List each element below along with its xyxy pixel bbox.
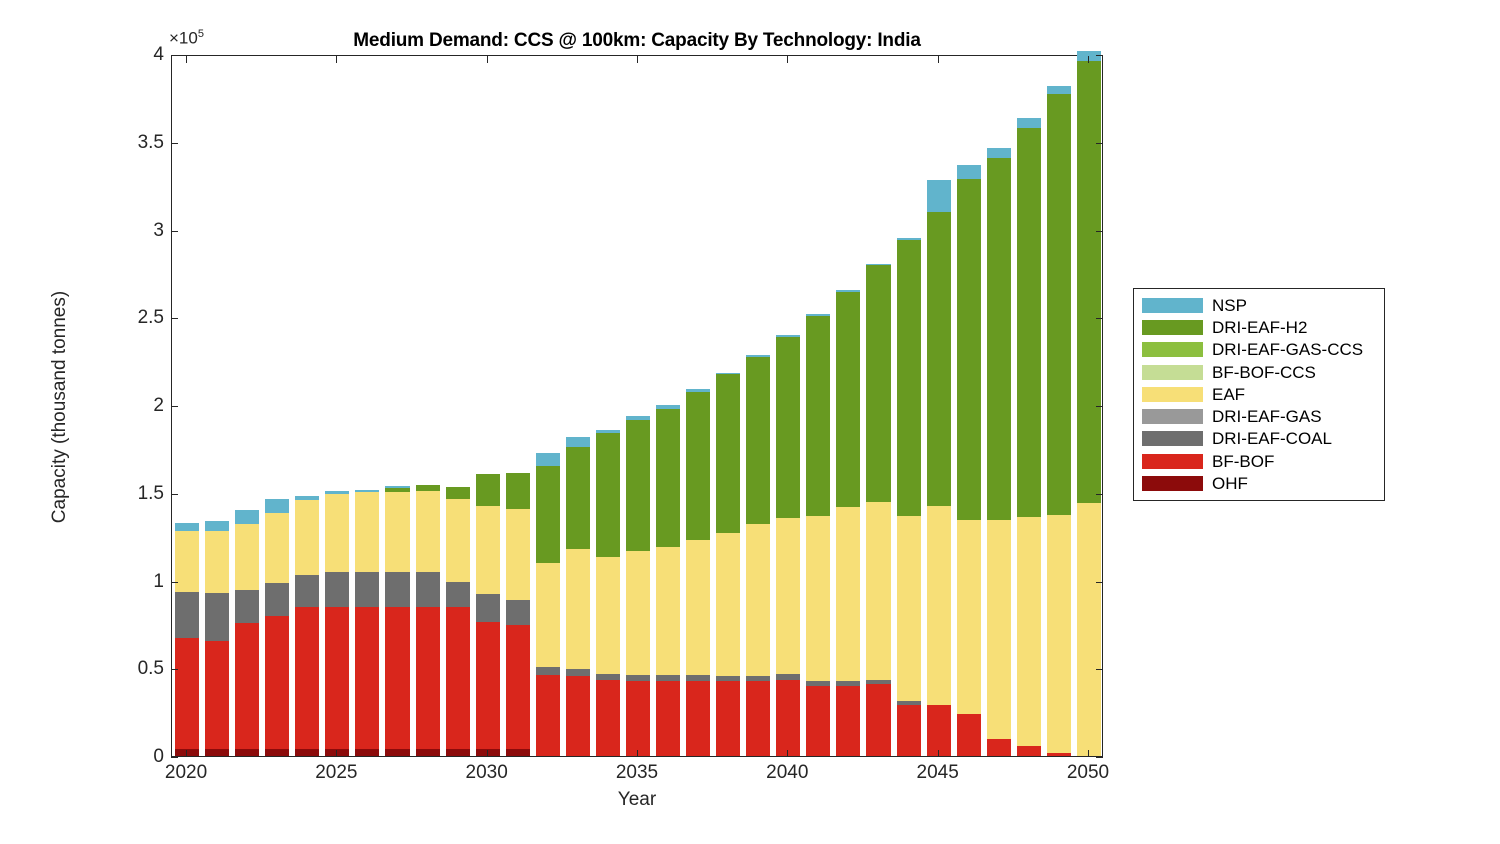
bar-segment-eaf[interactable] [416,491,440,573]
bar-segment-dri-eaf-coal[interactable] [325,572,349,607]
bar-segment-nsp[interactable] [626,416,650,420]
x-tick-mark [938,750,939,757]
bar-segment-nsp[interactable] [295,496,319,500]
x-tick-label-2045: 2045 [898,762,978,784]
y-axis-exponent: ×105 [169,28,204,49]
bar-segment-nsp[interactable] [235,510,259,524]
legend: NSPDRI-EAF-H2DRI-EAF-GAS-CCSBF-BOF-CCSEA… [1133,288,1385,501]
legend-swatch-dri-eaf-gas-ccs [1142,342,1203,357]
legend-item-dri-eaf-h2[interactable]: DRI-EAF-H2 [1134,316,1384,338]
bar-segment-dri-eaf-coal[interactable] [656,675,680,681]
bar-segment-dri-eaf-coal[interactable] [536,667,560,675]
page-title: Medium Demand: CCS @ 100km: Capacity By … [171,30,1103,52]
bar-column-2048[interactable] [1017,54,1041,756]
bar-segment-dri-eaf-coal[interactable] [897,701,921,705]
bar-segment-eaf[interactable] [536,563,560,667]
bar-column-2033[interactable] [566,54,590,756]
bar-segment-nsp[interactable] [1017,118,1041,128]
bar-segment-nsp[interactable] [746,355,770,357]
bar-segment-eaf[interactable] [957,520,981,714]
bar-segment-ohf[interactable] [235,749,259,756]
bar-segment-nsp[interactable] [566,437,590,447]
bar-column-2037[interactable] [686,54,710,756]
bar-column-2049[interactable] [1047,54,1071,756]
bar-column-2038[interactable] [716,54,740,756]
legend-item-bf-bof[interactable]: BF-BOF [1134,450,1384,472]
bar-segment-dri-eaf-h2[interactable] [506,473,530,509]
bar-segment-bf-bof[interactable] [355,607,379,748]
bar-column-2042[interactable] [836,54,860,756]
y-tick-label-4: 4 [104,44,164,66]
plot-area [171,55,1103,757]
bar-segment-dri-eaf-coal[interactable] [566,669,590,676]
y-tick-mark [171,582,178,583]
y-tick-mark-right [1096,406,1103,407]
x-tick-label-2030: 2030 [447,762,527,784]
bar-segment-eaf[interactable] [235,524,259,590]
bar-segment-bf-bof[interactable] [476,622,500,748]
bar-column-2044[interactable] [897,54,921,756]
bar-segment-dri-eaf-coal[interactable] [385,572,409,607]
bar-segment-dri-eaf-h2[interactable] [746,357,770,525]
bar-column-2039[interactable] [746,54,770,756]
bar-segment-bf-bof[interactable] [446,607,470,748]
legend-swatch-bf-bof-ccs [1142,365,1203,380]
legend-item-dri-eaf-coal[interactable]: DRI-EAF-COAL [1134,428,1384,450]
bar-segment-ohf[interactable] [325,749,349,756]
bar-segment-dri-eaf-h2[interactable] [1077,61,1101,503]
y-tick-mark-right [1096,494,1103,495]
legend-swatch-dri-eaf-coal [1142,431,1203,446]
bar-segment-dri-eaf-h2[interactable] [1047,94,1071,515]
bar-column-2021[interactable] [205,54,229,756]
y-tick-mark [171,669,178,670]
bar-segment-ohf[interactable] [295,749,319,756]
bar-segment-nsp[interactable] [987,148,1011,158]
bar-column-2043[interactable] [866,54,890,756]
x-tick-mark-top [787,56,788,63]
bar-segment-bf-bof[interactable] [385,607,409,748]
y-tick-mark [171,406,178,407]
bar-segment-eaf[interactable] [656,547,680,675]
bar-column-2034[interactable] [596,54,620,756]
bar-segment-bf-bof[interactable] [205,641,229,749]
bar-segment-dri-eaf-coal[interactable] [626,675,650,681]
bar-segment-dri-eaf-coal[interactable] [866,680,890,684]
bar-column-2040[interactable] [776,54,800,756]
legend-item-nsp[interactable]: NSP [1134,294,1384,316]
bar-column-2028[interactable] [416,54,440,756]
bar-segment-eaf[interactable] [1047,515,1071,754]
bar-segment-dri-eaf-h2[interactable] [927,212,951,506]
bar-segment-dri-eaf-coal[interactable] [836,681,860,686]
bar-segment-dri-eaf-h2[interactable] [416,485,440,490]
bar-column-2036[interactable] [656,54,680,756]
bar-segment-eaf[interactable] [776,518,800,674]
legend-label: OHF [1212,475,1248,492]
bar-segment-eaf[interactable] [1077,503,1101,756]
legend-label: BF-BOF-CCS [1212,364,1316,381]
bar-column-2050[interactable] [1077,54,1101,756]
y-axis-title: Capacity (thousand tonnes) [49,87,71,727]
bar-column-2020[interactable] [175,54,199,756]
bar-segment-nsp[interactable] [265,499,289,513]
x-tick-label-2050: 2050 [1048,762,1128,784]
bar-segment-eaf[interactable] [175,531,199,592]
bar-segment-dri-eaf-h2[interactable] [656,409,680,548]
bar-segment-bf-bof[interactable] [265,616,289,749]
bar-segment-eaf[interactable] [866,502,890,680]
bar-segment-eaf[interactable] [325,494,349,572]
bar-segment-bf-bof[interactable] [836,686,860,756]
y-tick-label-3.5: 3.5 [104,132,164,154]
bar-segment-dri-eaf-coal[interactable] [776,674,800,679]
bar-segment-dri-eaf-h2[interactable] [1017,128,1041,518]
legend-swatch-bf-bof [1142,454,1203,469]
bar-segment-bf-bof[interactable] [987,739,1011,756]
bar-segment-ohf[interactable] [355,749,379,756]
bar-segment-bf-bof[interactable] [656,681,680,756]
y-tick-mark-right [1096,669,1103,670]
y-tick-mark-right [1096,582,1103,583]
bar-segment-bf-bof[interactable] [866,684,890,756]
chart-page: Medium Demand: CCS @ 100km: Capacity By … [0,0,1500,844]
bar-segment-dri-eaf-coal[interactable] [175,592,199,639]
bar-segment-eaf[interactable] [806,516,830,681]
bar-column-2047[interactable] [987,54,1011,756]
bar-column-2027[interactable] [385,54,409,756]
bar-segment-nsp[interactable] [927,180,951,212]
y-tick-mark [171,318,178,319]
bar-segment-eaf[interactable] [987,520,1011,739]
bar-segment-nsp[interactable] [897,238,921,240]
bar-segment-nsp[interactable] [385,486,409,488]
bar-segment-ohf[interactable] [265,749,289,756]
x-tick-mark [637,750,638,757]
x-tick-mark [1088,750,1089,757]
bar-segment-dri-eaf-h2[interactable] [476,474,500,506]
bar-segment-bf-bof[interactable] [566,676,590,756]
bar-segment-nsp[interactable] [866,264,890,266]
bar-segment-bf-bof[interactable] [806,686,830,756]
bar-segment-bf-bof[interactable] [536,675,560,756]
bar-segment-nsp[interactable] [957,165,981,179]
x-tick-mark-top [1088,56,1089,63]
legend-label: DRI-EAF-GAS-CCS [1212,341,1363,358]
bar-column-2022[interactable] [235,54,259,756]
bar-segment-dri-eaf-h2[interactable] [385,488,409,492]
y-tick-mark-right [1096,231,1103,232]
y-axis-exponent-base: ×10 [169,29,198,48]
bar-segment-dri-eaf-coal[interactable] [295,575,319,607]
bar-segment-eaf[interactable] [355,492,379,572]
legend-swatch-eaf [1142,387,1203,402]
legend-item-bf-bof-ccs[interactable]: BF-BOF-CCS [1134,361,1384,383]
y-tick-mark [171,757,178,758]
bar-column-2045[interactable] [927,54,951,756]
legend-label: BF-BOF [1212,453,1274,470]
bar-segment-dri-eaf-h2[interactable] [596,433,620,557]
bar-segment-eaf[interactable] [506,509,530,600]
y-tick-mark [171,55,178,56]
y-tick-mark-right [1096,318,1103,319]
bar-segment-bf-bof[interactable] [746,681,770,756]
bar-column-2031[interactable] [506,54,530,756]
bar-segment-nsp[interactable] [716,373,740,375]
bar-segment-eaf[interactable] [927,506,951,705]
bar-segment-eaf[interactable] [746,524,770,676]
bar-segment-bf-bof[interactable] [957,714,981,756]
bar-segment-eaf[interactable] [566,549,590,669]
y-tick-mark [171,494,178,495]
bar-column-2023[interactable] [265,54,289,756]
x-tick-mark-top [186,56,187,63]
y-tick-label-1.5: 1.5 [104,483,164,505]
legend-label: EAF [1212,386,1245,403]
bar-segment-bf-bof[interactable] [716,681,740,756]
bar-segment-dri-eaf-h2[interactable] [957,179,981,519]
bar-segment-bf-bof[interactable] [686,681,710,756]
bar-segment-dri-eaf-h2[interactable] [626,420,650,551]
bar-segment-dri-eaf-h2[interactable] [536,466,560,563]
bar-segment-ohf[interactable] [416,749,440,756]
legend-item-dri-eaf-gas-ccs[interactable]: DRI-EAF-GAS-CCS [1134,339,1384,361]
bar-segment-dri-eaf-h2[interactable] [776,337,800,519]
legend-label: DRI-EAF-H2 [1212,319,1307,336]
bar-segment-bf-bof[interactable] [776,680,800,756]
bar-column-2026[interactable] [355,54,379,756]
bar-segment-dri-eaf-coal[interactable] [476,594,500,622]
bar-segment-dri-eaf-h2[interactable] [566,447,590,549]
x-tick-mark-top [336,56,337,63]
x-tick-mark [487,750,488,757]
bar-segment-dri-eaf-h2[interactable] [686,392,710,540]
bar-segment-eaf[interactable] [205,531,229,593]
bar-segment-eaf[interactable] [716,533,740,676]
y-tick-label-3: 3 [104,220,164,242]
bar-segment-nsp[interactable] [536,453,560,465]
legend-label: DRI-EAF-GAS [1212,408,1322,425]
bar-segment-dri-eaf-coal[interactable] [416,572,440,607]
x-tick-mark-top [637,56,638,63]
bar-segment-dri-eaf-h2[interactable] [446,487,470,498]
bar-segment-dri-eaf-coal[interactable] [716,676,740,681]
bar-segment-ohf[interactable] [385,749,409,756]
bar-column-2032[interactable] [536,54,560,756]
legend-item-dri-eaf-gas[interactable]: DRI-EAF-GAS [1134,405,1384,427]
bar-segment-dri-eaf-coal[interactable] [596,674,620,680]
y-tick-mark-right [1096,143,1103,144]
bar-segment-dri-eaf-coal[interactable] [446,582,470,607]
bar-segment-dri-eaf-coal[interactable] [746,676,770,681]
legend-item-eaf[interactable]: EAF [1134,383,1384,405]
bar-segment-eaf[interactable] [476,506,500,595]
y-tick-label-1: 1 [104,571,164,593]
x-tick-mark-top [938,56,939,63]
y-tick-mark [171,231,178,232]
legend-swatch-dri-eaf-gas [1142,409,1203,424]
bars-layer [172,56,1102,756]
bar-column-2025[interactable] [325,54,349,756]
legend-label: NSP [1212,297,1247,314]
y-axis-exponent-power: 5 [198,28,204,40]
bar-segment-nsp[interactable] [175,523,199,531]
x-tick-label-2040: 2040 [747,762,827,784]
bar-segment-dri-eaf-h2[interactable] [836,292,860,507]
legend-label: DRI-EAF-COAL [1212,430,1332,447]
y-tick-label-0.5: 0.5 [104,658,164,680]
bar-segment-ohf[interactable] [446,749,470,756]
bar-segment-dri-eaf-coal[interactable] [506,600,530,625]
bar-column-2024[interactable] [295,54,319,756]
x-tick-mark [186,750,187,757]
bar-segment-dri-eaf-coal[interactable] [806,681,830,686]
x-tick-mark [787,750,788,757]
y-tick-mark-right [1096,55,1103,56]
bar-segment-bf-bof[interactable] [596,680,620,756]
bar-column-2029[interactable] [446,54,470,756]
bar-segment-bf-bof[interactable] [235,623,259,748]
bar-segment-eaf[interactable] [836,507,860,681]
bar-segment-dri-eaf-coal[interactable] [205,593,229,640]
bar-segment-ohf[interactable] [205,749,229,756]
bar-segment-bf-bof[interactable] [506,625,530,749]
legend-swatch-dri-eaf-h2 [1142,320,1203,335]
bar-segment-dri-eaf-h2[interactable] [987,158,1011,520]
x-tick-mark-top [487,56,488,63]
bar-segment-bf-bof[interactable] [416,607,440,748]
bar-segment-eaf[interactable] [446,499,470,582]
bar-segment-nsp[interactable] [686,389,710,392]
bar-segment-nsp[interactable] [325,491,349,495]
bar-segment-eaf[interactable] [265,513,289,583]
bar-segment-nsp[interactable] [205,521,229,532]
bar-segment-eaf[interactable] [897,516,921,701]
bar-segment-eaf[interactable] [295,500,319,575]
legend-item-ohf[interactable]: OHF [1134,472,1384,494]
bar-segment-bf-bof[interactable] [1017,746,1041,756]
bar-segment-eaf[interactable] [1017,517,1041,746]
bar-segment-bf-bof[interactable] [927,705,951,756]
bar-segment-dri-eaf-h2[interactable] [716,374,740,533]
bar-segment-dri-eaf-h2[interactable] [866,265,890,501]
bar-segment-nsp[interactable] [836,290,860,292]
bar-segment-dri-eaf-coal[interactable] [265,583,289,616]
bar-segment-nsp[interactable] [806,314,830,316]
y-tick-mark-right [1096,757,1103,758]
x-tick-label-2020: 2020 [146,762,226,784]
bar-segment-nsp[interactable] [776,335,800,337]
bar-segment-dri-eaf-coal[interactable] [355,572,379,607]
y-tick-label-2.5: 2.5 [104,307,164,329]
bar-column-2046[interactable] [957,54,981,756]
bar-segment-bf-bof[interactable] [325,607,349,748]
bar-column-2030[interactable] [476,54,500,756]
bar-column-2041[interactable] [806,54,830,756]
bar-segment-dri-eaf-h2[interactable] [897,240,921,516]
bar-segment-bf-bof[interactable] [295,607,319,748]
y-tick-label-2: 2 [104,395,164,417]
bar-segment-ohf[interactable] [506,749,530,756]
bar-segment-nsp[interactable] [656,405,680,409]
bar-segment-eaf[interactable] [385,492,409,572]
bar-segment-bf-bof[interactable] [626,681,650,756]
x-tick-label-2035: 2035 [597,762,677,784]
bar-segment-bf-bof[interactable] [1047,753,1071,756]
bar-segment-dri-eaf-coal[interactable] [235,590,259,623]
bar-segment-bf-bof[interactable] [175,638,199,749]
x-tick-label-2025: 2025 [296,762,376,784]
bar-segment-bf-bof[interactable] [897,705,921,756]
x-axis-title: Year [171,789,1103,811]
bar-column-2035[interactable] [626,54,650,756]
bar-segment-nsp[interactable] [596,430,620,434]
y-tick-mark [171,143,178,144]
bar-segment-nsp[interactable] [1047,86,1071,94]
x-tick-mark [336,750,337,757]
legend-swatch-ohf [1142,476,1203,491]
bar-segment-dri-eaf-coal[interactable] [686,675,710,681]
bar-segment-eaf[interactable] [596,557,620,674]
bar-segment-nsp[interactable] [355,490,379,493]
bar-segment-eaf[interactable] [686,540,710,675]
bar-segment-dri-eaf-h2[interactable] [806,316,830,516]
bar-segment-eaf[interactable] [626,551,650,676]
legend-swatch-nsp [1142,298,1203,313]
